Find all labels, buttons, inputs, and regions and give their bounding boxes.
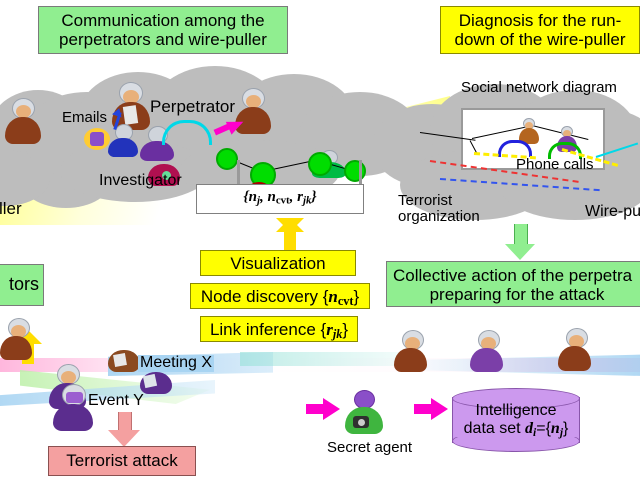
diagnosis-box-line1: Diagnosis for the run- [441,11,639,30]
person-bottom-right-3 [558,328,594,370]
person-bottom-right-2 [470,330,506,370]
visualization-box-label: Visualization [230,254,325,273]
beam-teal-bottom-mid [240,352,410,366]
database-line2: data set di={nj} [452,420,580,440]
diagram-canvas: {nj, ncvt, rjk} [0,0,640,481]
database-line2-post: } [563,420,568,437]
network-node-green-3 [308,152,332,176]
communication-box-line1: Communication among the [39,11,287,30]
network-node-green-1 [216,148,238,170]
visualization-box: Visualization [200,250,356,276]
arrow-up-to-visualization [276,218,304,252]
node-discovery-box-label: Node discovery {ncvt} [201,287,359,306]
terrorist-attack-box-label: Terrorist attack [66,451,177,470]
beam-blue-right-bottom [420,352,640,378]
label-phone-calls: Phone calls [516,157,594,173]
parameter-set-panel: {nj, ncvt, rjk} [196,184,364,214]
collective-action-box: Collective action of the perpetra prepar… [386,261,640,307]
link-inference-text-post: } [342,320,348,339]
arrow-down-to-collective-action [505,224,535,260]
terrorist-attack-box: Terrorist attack [48,446,196,476]
diagnosis-box: Diagnosis for the run- down of the wire-… [440,6,640,54]
arrow-down-to-terrorist-attack [108,412,140,448]
collective-action-line2: preparing for the attack [393,285,640,304]
person-left-cloud [4,98,44,144]
node-discovery-box: Node discovery {ncvt} [190,283,370,309]
label-investigator: Investigator [99,173,182,190]
parameter-set-label: {nj, ncvt, rjk} [197,185,363,207]
collective-action-line1: Collective action of the perpetra [393,266,640,285]
terrorist-organization-line2: organization [398,209,480,225]
communication-box-line2: perpetrators and wire-puller [39,30,287,49]
label-wire-puller-left: ller [0,200,22,218]
arrow-right-to-secret-agent [306,398,340,420]
label-event-y: Event Y [88,393,144,410]
label-wire-puller-right: Wire-pu [585,204,640,221]
intelligence-database: Intelligence data set di={nj} [452,388,580,452]
node-discovery-text-post: } [353,287,359,306]
investigators-box-label: tors [9,274,39,294]
person-laptop-emails [84,122,114,152]
terrorist-organization-line1: Terrorist [398,193,480,209]
label-terrorist-organization: Terrorist organization [398,193,480,225]
person-bottom-left-top [0,318,36,358]
arrow-right-to-database [414,398,448,420]
label-emails: Emails [62,110,107,126]
node-discovery-text-pre: Node discovery { [201,287,329,306]
diagnosis-box-line2: down of the wire-puller [441,30,639,49]
label-meeting-x: Meeting X [138,355,214,372]
investigators-box: tors [0,264,44,306]
person-bottom-right-1 [394,330,430,370]
database-line2-eq: ={ [536,420,551,437]
person-event-y-blue [140,370,174,396]
label-social-network-diagram: Social network diagram [461,80,617,96]
link-inference-box-label: Link inference {rjk} [210,320,348,339]
link-inference-box: Link inference {rjk} [200,316,358,342]
person-meeting-x-brown [108,348,142,374]
communication-box: Communication among the perpetrators and… [38,6,288,54]
network-node-green-4 [344,160,366,182]
person-secret-agent [344,390,384,434]
label-secret-agent: Secret agent [327,440,412,456]
label-perpetrator: Perpetrator [150,98,235,116]
database-line1: Intelligence [452,402,580,420]
link-inference-text-pre: Link inference { [210,320,326,339]
database-line2-pre: data set [464,420,525,437]
